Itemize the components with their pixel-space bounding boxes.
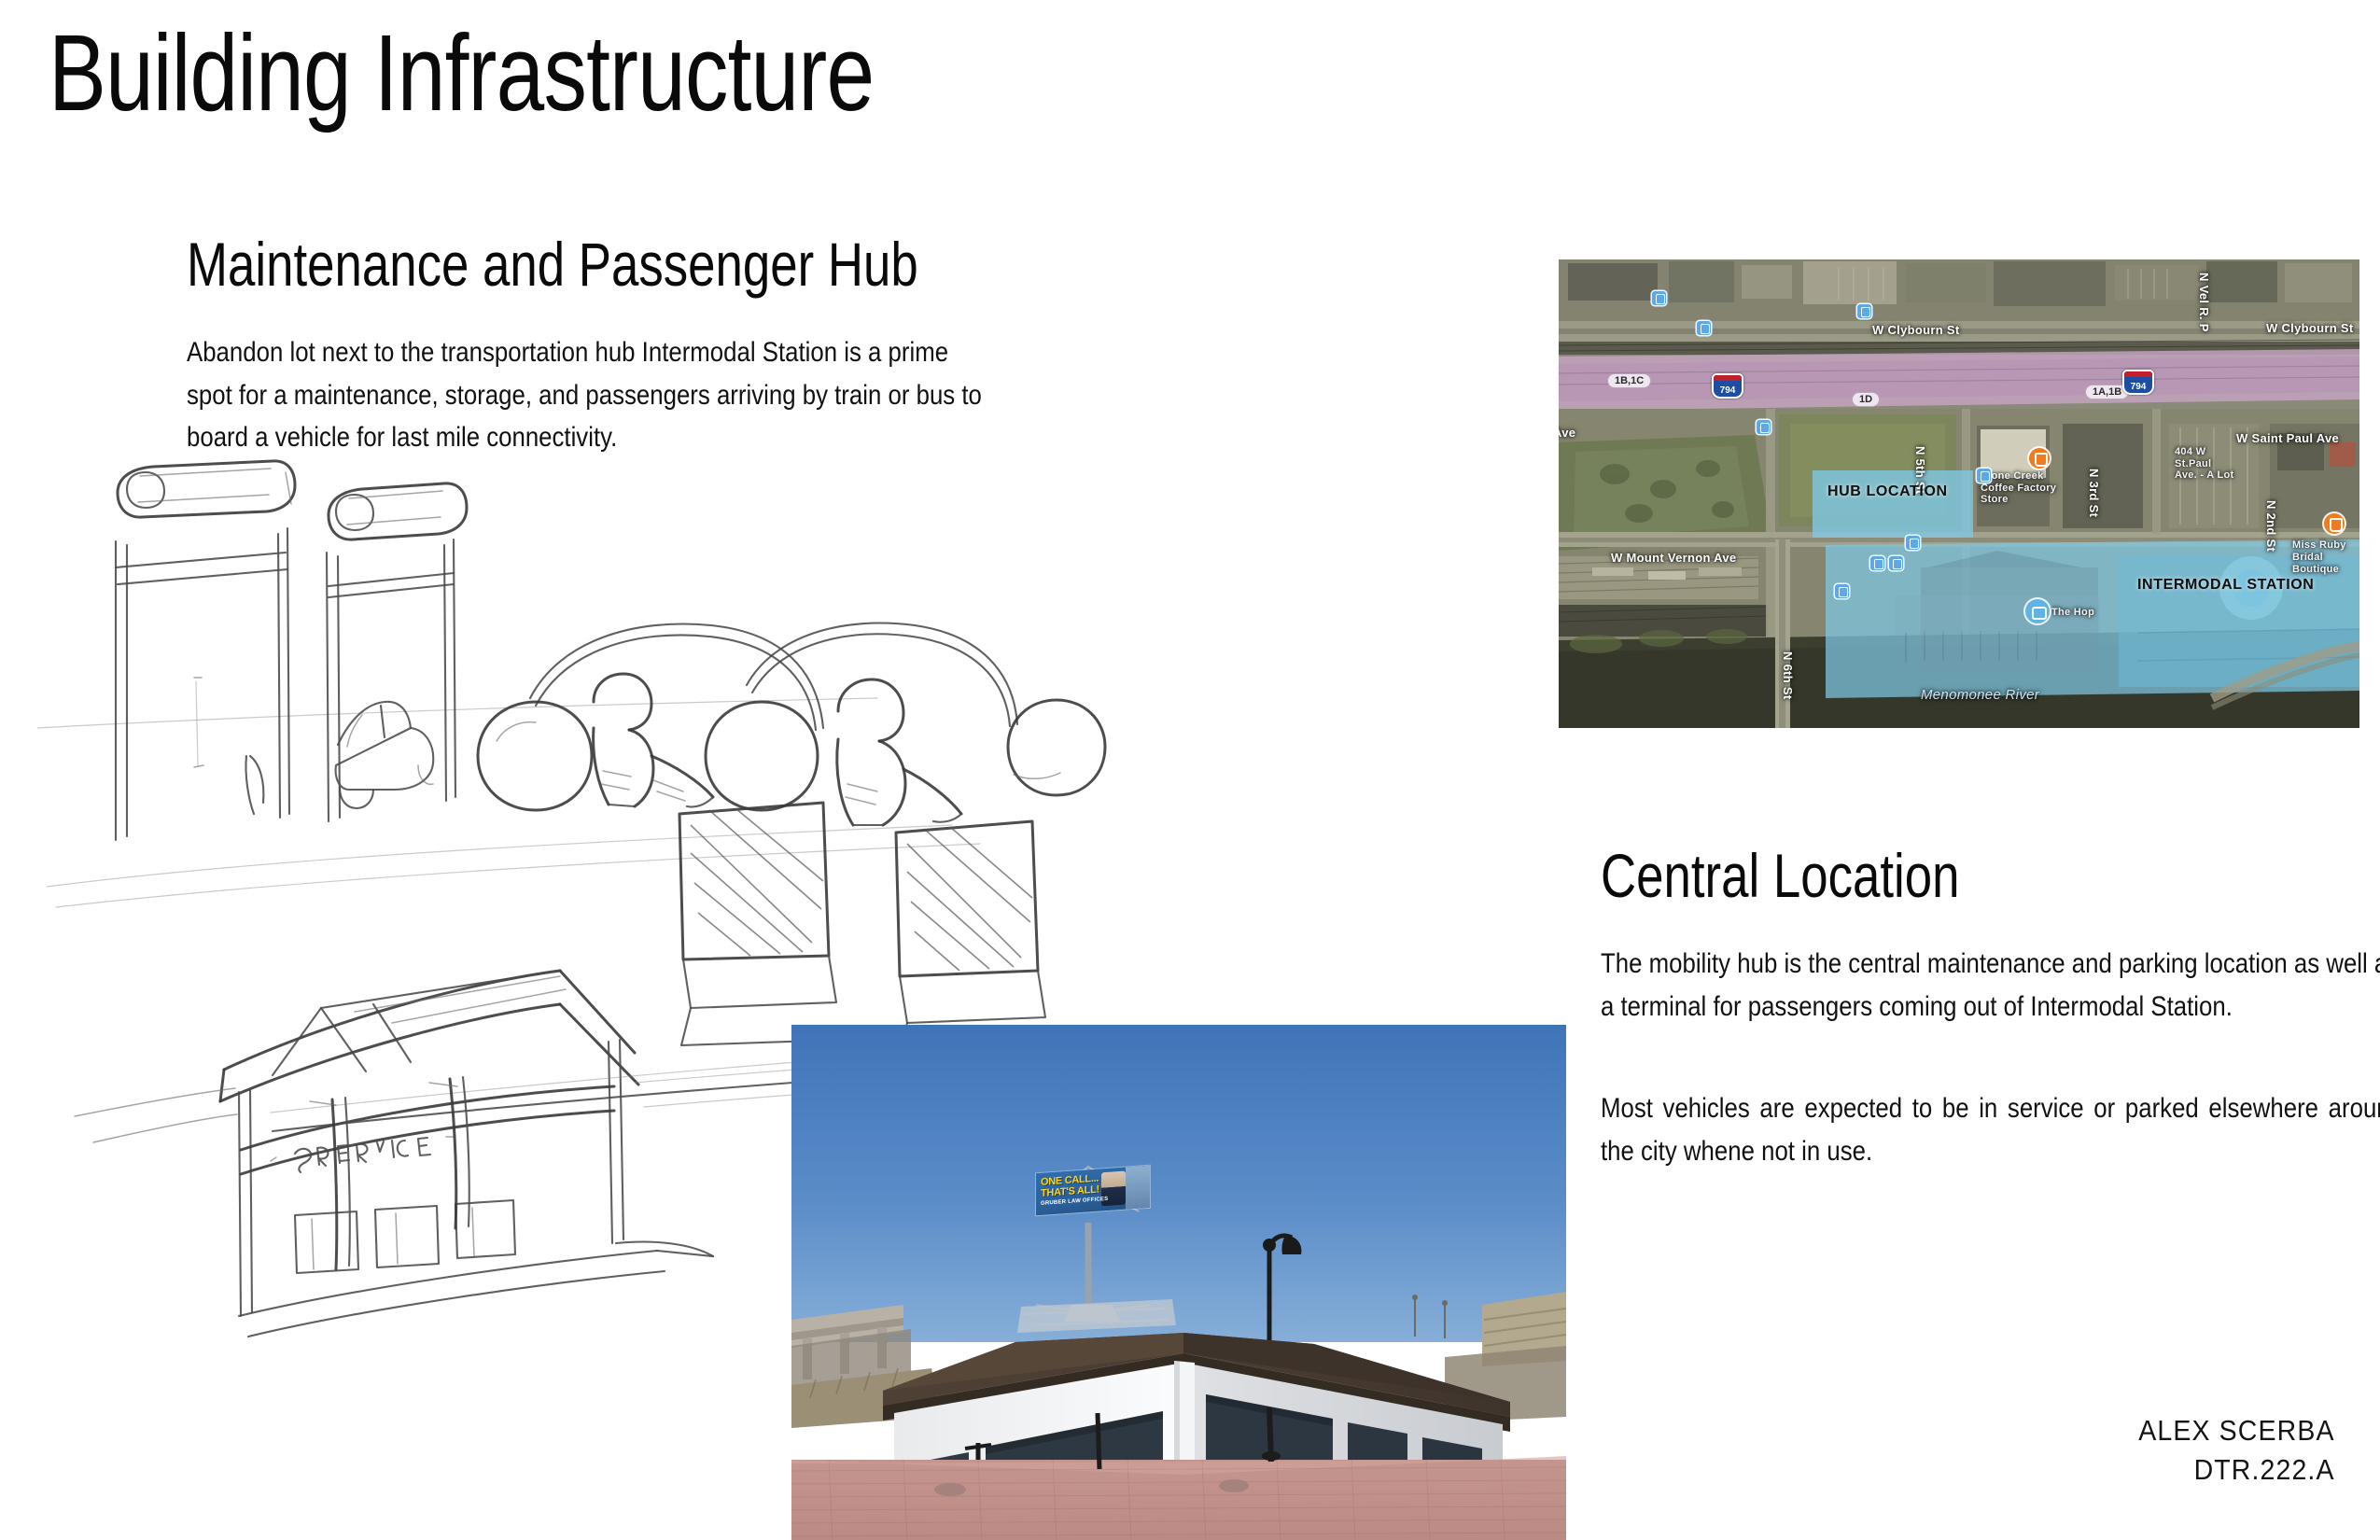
map-exit-label-1b1c: 1B,1C — [1607, 373, 1651, 388]
map-transit-icon-8 — [1835, 584, 1849, 598]
map-transit-icon-7 — [1889, 556, 1903, 570]
highway-shield-number-right: 794 — [2124, 383, 2152, 392]
highway-shield-number: 794 — [1714, 386, 1742, 396]
page-title: Building Infrastructure — [49, 19, 874, 127]
section-heading-hub: Maintenance and Passenger Hub — [187, 233, 918, 295]
author-name: ALEX SCERBA — [2139, 1411, 2335, 1450]
presentation-slide: Building Infrastructure Maintenance and … — [0, 0, 2380, 1540]
map-transit-icon-4 — [1757, 420, 1771, 434]
map-transit-icon-1 — [1652, 291, 1666, 305]
billboard-sign: ONE CALL... THAT'S ALL! GRUBER LAW OFFIC… — [1036, 1166, 1150, 1216]
section-body-hub: Abandon lot next to the transportation h… — [187, 331, 989, 459]
section-body-location-2: Most vehicles are expected to be in serv… — [1601, 1087, 2380, 1172]
map-transit-icon-2 — [1857, 304, 1871, 318]
map-hop-stop-icon — [2025, 599, 2050, 623]
map-transit-icon-9 — [1977, 469, 1991, 483]
highway-shield-icon: 794 — [1712, 373, 1743, 399]
map-transit-icon-5 — [1906, 536, 1920, 550]
section-heading-location: Central Location — [1601, 845, 1960, 906]
section-body-location-1: The mobility hub is the central maintena… — [1601, 943, 2380, 1028]
map-pin-shop-icon — [2324, 513, 2345, 534]
photo-base-svg — [791, 1025, 1566, 1540]
author-credit: ALEX SCERBA DTR.222.A — [2139, 1411, 2335, 1489]
building-photo-render: ONE CALL... THAT'S ALL! GRUBER LAW OFFIC… — [791, 1025, 1566, 1540]
map-base-svg — [1559, 259, 2359, 728]
satellite-map-image: W Clybourn St W Clybourn St W Saint Paul… — [1559, 259, 2359, 728]
map-transit-icon-6 — [1870, 556, 1884, 570]
map-transit-icon-3 — [1697, 321, 1711, 335]
map-exit-label-1d: 1D — [1852, 392, 1880, 407]
billboard-right-panel — [1126, 1166, 1150, 1210]
author-code: DTR.222.A — [2139, 1450, 2335, 1490]
map-pin-coffee-icon — [2029, 448, 2050, 469]
highway-shield-icon-right: 794 — [2122, 370, 2154, 395]
